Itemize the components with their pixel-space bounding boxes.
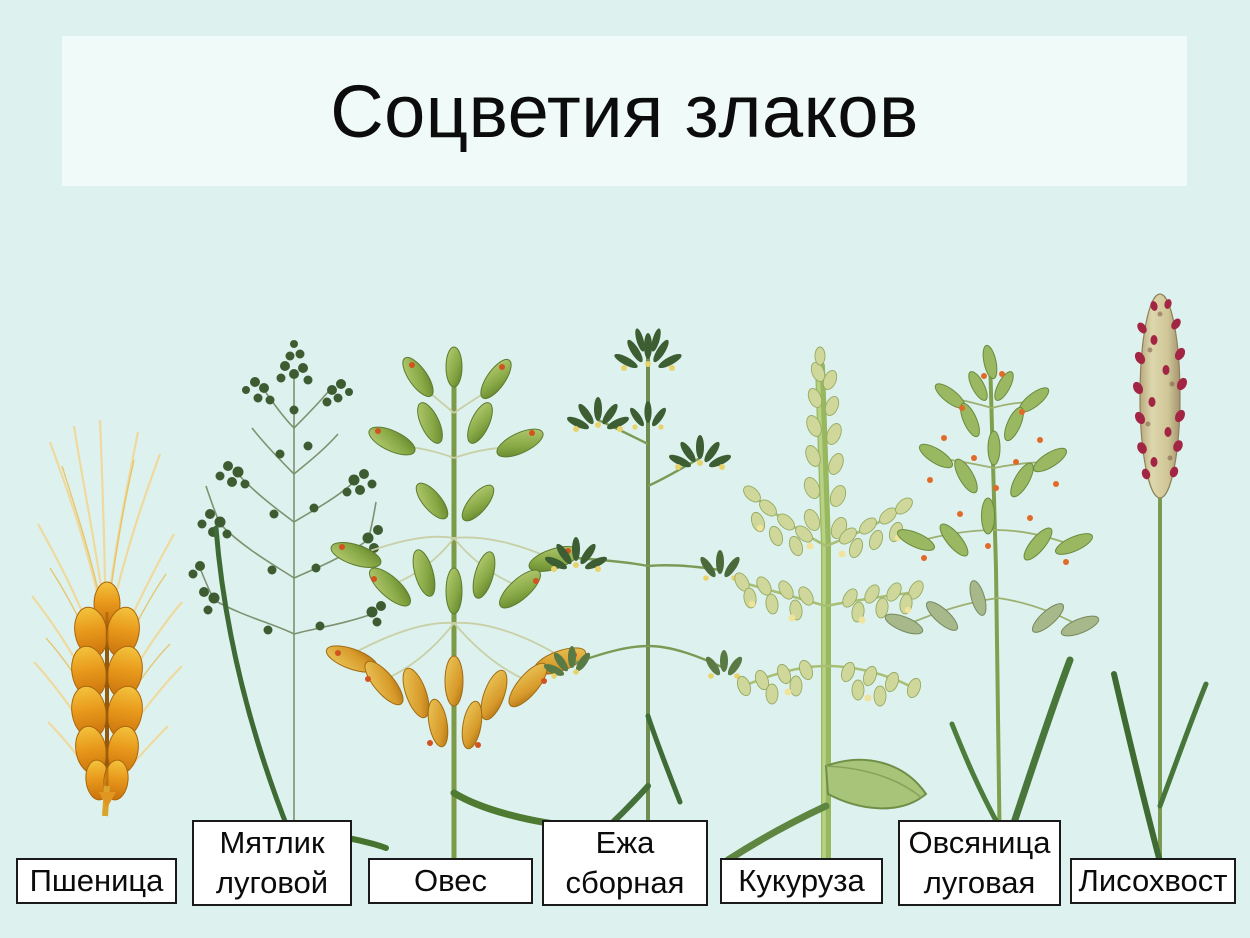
label-oat-line1: Овес	[414, 861, 487, 901]
label-foxtail[interactable]: Лисохвост	[1070, 858, 1236, 904]
label-wheat-line1: Пшеница	[30, 861, 164, 901]
plant-foxtail	[1080, 266, 1240, 866]
label-fescue[interactable]: Овсяница луговая	[898, 820, 1061, 906]
label-bluegrass-line1: Мятлик	[219, 823, 324, 863]
label-maize-line1: Кукуруза	[738, 861, 864, 901]
title-band: Соцветия злаков	[62, 36, 1187, 186]
label-bluegrass[interactable]: Мятлик луговой	[192, 820, 352, 906]
label-maize[interactable]: Кукуруза	[720, 858, 883, 904]
label-wheat[interactable]: Пшеница	[16, 858, 177, 904]
plant-fescue	[870, 268, 1090, 868]
page-title: Соцветия злаков	[62, 36, 1187, 186]
label-cocksfoot[interactable]: Ежа сборная	[542, 820, 708, 906]
plant-wheat	[6, 346, 196, 816]
label-bluegrass-line2: луговой	[216, 863, 328, 903]
label-fescue-line2: луговая	[924, 863, 1036, 903]
label-oat[interactable]: Овес	[368, 858, 533, 904]
label-cocksfoot-line2: сборная	[566, 863, 685, 903]
slide: Соцветия злаков	[0, 0, 1250, 938]
label-cocksfoot-line1: Ежа	[596, 823, 655, 863]
label-fescue-line1: Овсяница	[909, 823, 1051, 863]
label-foxtail-line1: Лисохвост	[1079, 861, 1228, 901]
